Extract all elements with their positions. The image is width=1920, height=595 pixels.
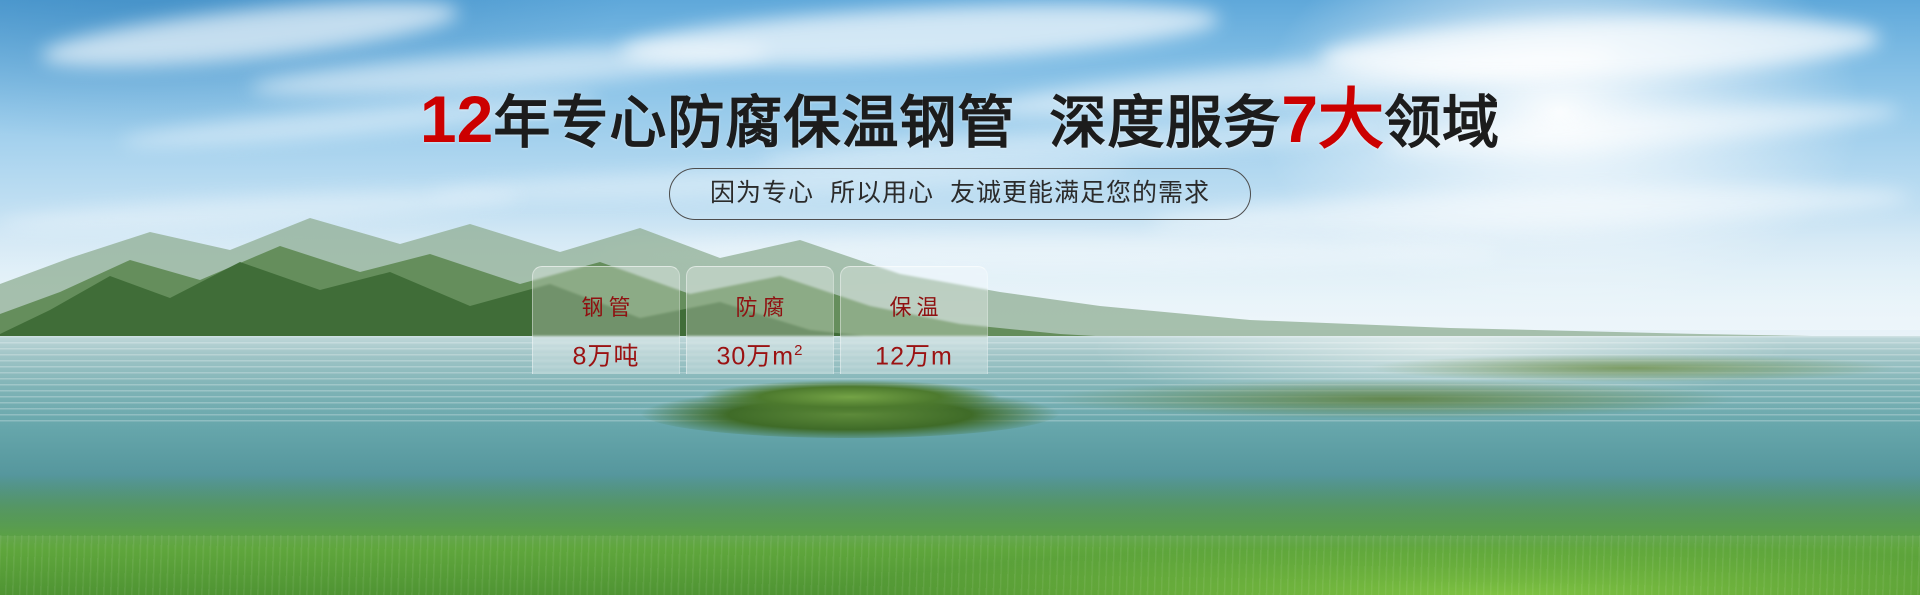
headline-years-number: 12 — [420, 82, 493, 156]
stat-card-value: 30万m2 — [717, 337, 804, 370]
subtitle-container: 因为专心所以用心友诚更能满足您的需求 — [0, 168, 1920, 220]
grass-blade-texture — [0, 535, 1920, 595]
subtitle-pill: 因为专心所以用心友诚更能满足您的需求 — [669, 168, 1251, 220]
stat-card-anticorrosion: 防腐 30万m2 — [686, 266, 834, 374]
stat-card-value-text: 8万吨 — [573, 342, 640, 370]
stats-card-group: 钢管 8万吨 防腐 30万m2 保温 12万m — [532, 266, 988, 374]
stat-card-value-text: 12万m — [875, 342, 953, 370]
stat-card-value: 8万吨 — [573, 337, 640, 370]
stat-card-value: 12万m — [875, 337, 953, 370]
headline-part3: 领域 — [1384, 91, 1500, 155]
hero-banner: 12年专心防腐保温钢管深度服务7大领域 因为专心所以用心友诚更能满足您的需求 钢… — [0, 0, 1920, 595]
headline-part2: 深度服务 — [1049, 91, 1281, 155]
stat-card-label: 保温 — [884, 295, 943, 321]
subtitle-segment-3: 友诚更能满足您的需求 — [950, 179, 1210, 207]
subtitle-segment-2: 所以用心 — [830, 179, 934, 207]
page-title: 12年专心防腐保温钢管深度服务7大领域 — [0, 88, 1920, 154]
stat-card-insulation: 保温 12万m — [840, 266, 988, 374]
headline-domains-number: 7大 — [1281, 82, 1384, 156]
headline-part1: 年专心防腐保温钢管 — [493, 91, 1015, 155]
stat-card-value-superscript: 2 — [794, 342, 803, 359]
stat-card-label: 钢管 — [576, 295, 635, 321]
marsh-right — [1040, 366, 1920, 426]
subtitle-segment-1: 因为专心 — [710, 179, 814, 207]
stat-card-label: 防腐 — [730, 295, 789, 321]
stat-card-steel-pipe: 钢管 8万吨 — [532, 266, 680, 374]
stat-card-value-text: 30万m — [717, 342, 795, 370]
grass-island-top — [700, 380, 1000, 414]
